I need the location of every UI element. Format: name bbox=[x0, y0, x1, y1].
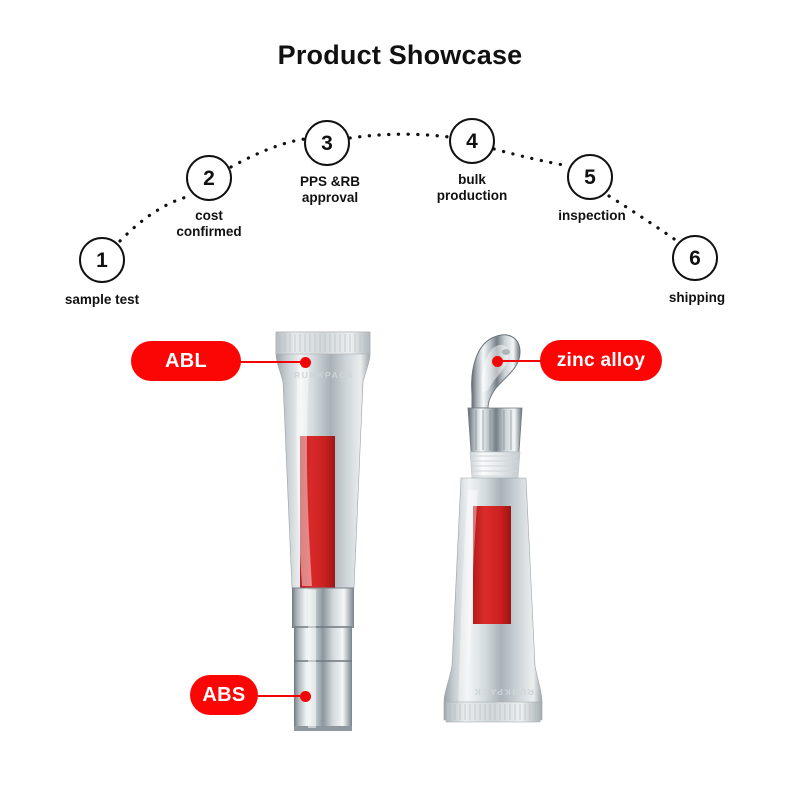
step-number-badge: 2 bbox=[186, 155, 232, 201]
step-number-badge: 4 bbox=[449, 118, 495, 164]
step-number-badge: 1 bbox=[79, 237, 125, 283]
process-step-label-2: cost confirmed bbox=[129, 208, 289, 241]
zinc-alloy-leader-line bbox=[496, 360, 545, 362]
product-squeeze-tube-abl bbox=[258, 326, 388, 736]
callout-abs[interactable]: ABS bbox=[190, 675, 258, 715]
abl-leader-line bbox=[238, 361, 306, 363]
product-showcase-canvas: Product Showcase 1 sample test 2 cost co… bbox=[0, 0, 800, 800]
step-number-badge: 3 bbox=[304, 120, 350, 166]
product-squeeze-tube-zinc-alloy bbox=[428, 330, 558, 730]
process-step-label-4: bulk production bbox=[392, 172, 552, 205]
process-step-label-5: inspection bbox=[512, 208, 672, 224]
zinc-alloy-leader-dot bbox=[492, 356, 503, 367]
process-step-label-1: sample test bbox=[22, 292, 182, 308]
callout-zinc-alloy[interactable]: zinc alloy bbox=[540, 340, 662, 381]
abl-leader-dot bbox=[300, 357, 311, 368]
abs-leader-line bbox=[258, 695, 306, 697]
step-number-badge: 6 bbox=[672, 235, 718, 281]
product2-brand-label: RUNKPACK bbox=[473, 687, 534, 697]
product1-brand-label: RUNKPACK bbox=[294, 370, 355, 380]
process-step-label-6: shipping bbox=[617, 290, 777, 306]
process-flow-connectors bbox=[0, 0, 800, 330]
abs-leader-dot bbox=[300, 691, 311, 702]
step-number-badge: 5 bbox=[567, 154, 613, 200]
callout-abl[interactable]: ABL bbox=[131, 341, 241, 381]
process-step-label-3: PPS &RB approval bbox=[250, 174, 410, 207]
